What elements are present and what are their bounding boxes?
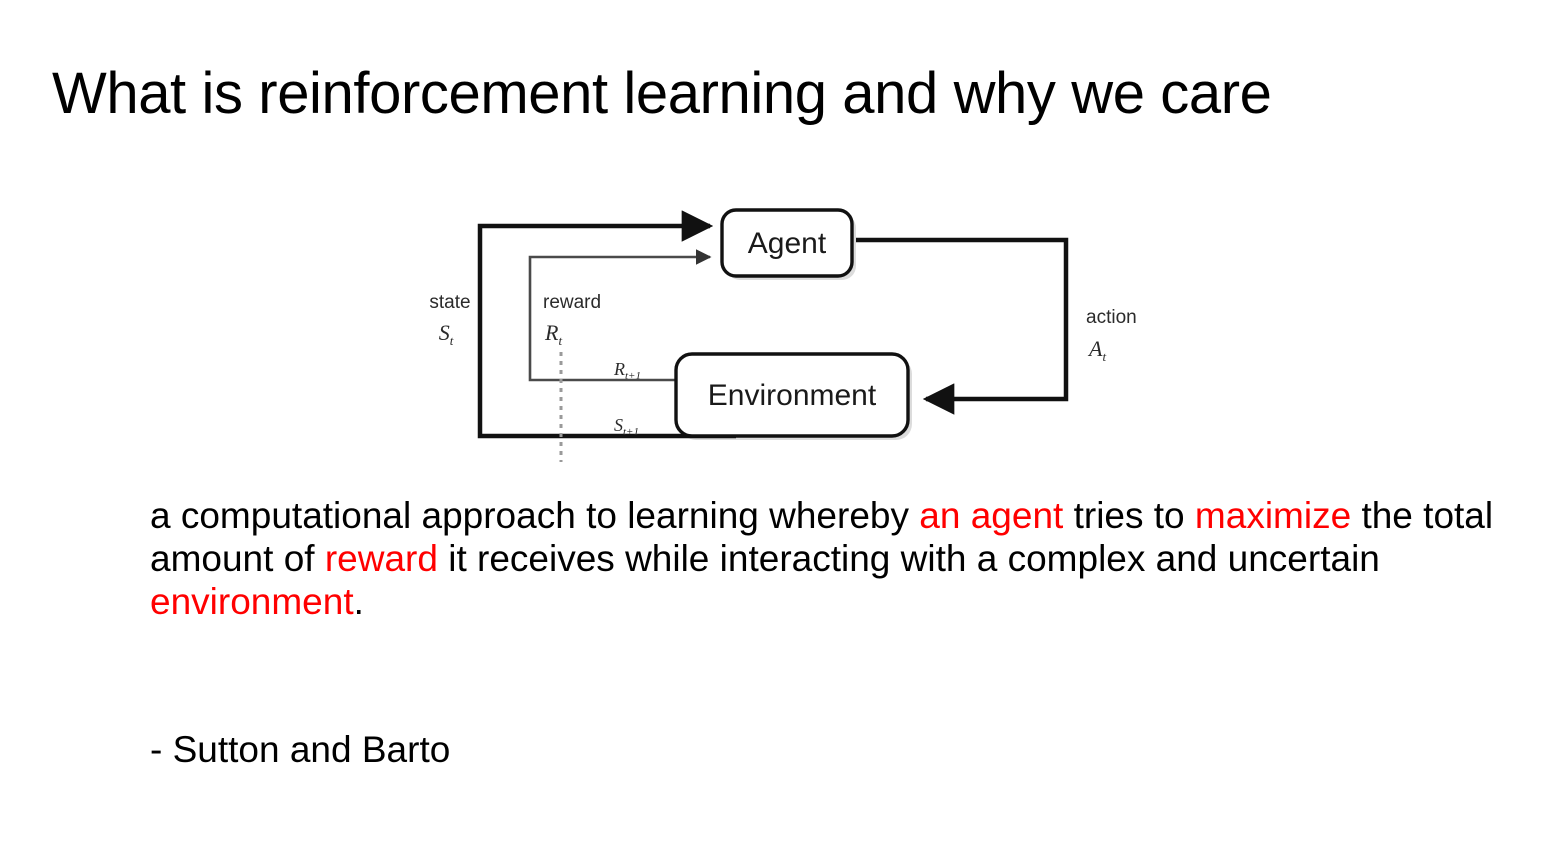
next-state-label: St+1 <box>614 415 639 438</box>
quote-highlight-7: environment <box>150 581 354 622</box>
rl-loop-diagram: Agent Environment state St reward Rt act… <box>418 200 1166 472</box>
quote-text-0: a computational approach to learning whe… <box>150 495 919 536</box>
quote-paragraph: a computational approach to learning whe… <box>150 494 1520 623</box>
next-reward-label: Rt+1 <box>613 359 641 382</box>
quote-text-2: tries to <box>1063 495 1195 536</box>
reward-label-symbol: Rt <box>544 320 562 348</box>
quote-highlight-1: an agent <box>919 495 1063 536</box>
environment-box-label: Environment <box>708 379 877 412</box>
agent-box-label: Agent <box>748 227 827 260</box>
quote-text-8: . <box>354 581 364 622</box>
reward-label-word: reward <box>543 292 601 313</box>
state-label-symbol: St <box>439 320 454 348</box>
state-label-word: state <box>429 292 470 313</box>
agent-environment-diagram-svg: Agent Environment state St reward Rt act… <box>418 200 1166 472</box>
slide-canvas: What is reinforcement learning and why w… <box>0 0 1552 866</box>
quote-attribution: - Sutton and Barto <box>150 728 450 771</box>
action-label-symbol: At <box>1087 336 1106 364</box>
quote-highlight-5: reward <box>325 538 438 579</box>
quote-text-6: it receives while interacting with a com… <box>438 538 1380 579</box>
page-title: What is reinforcement learning and why w… <box>52 63 1472 126</box>
quote-highlight-3: maximize <box>1195 495 1351 536</box>
action-label-word: action <box>1086 307 1137 328</box>
